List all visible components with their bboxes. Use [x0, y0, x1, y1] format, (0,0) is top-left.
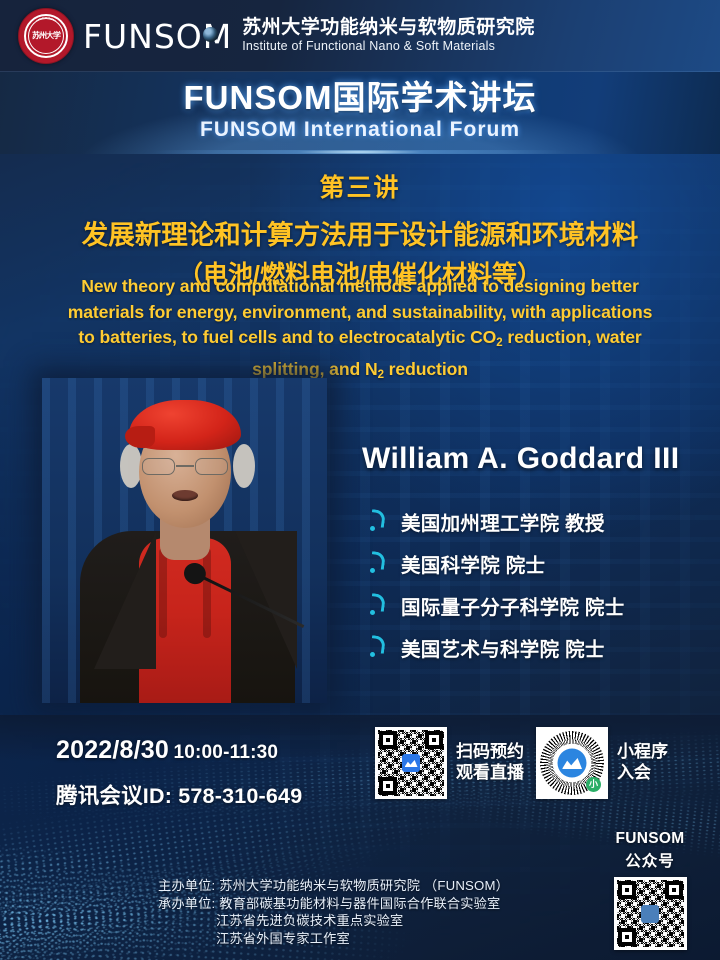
event-date: 2022/8/30 [56, 736, 169, 764]
brand-lockup: FUNSOM 苏州大学功能纳米与软物质研究院 Institute of Func… [83, 18, 535, 54]
institute-names: 苏州大学功能纳米与软物质研究院 Institute of Functional … [242, 18, 535, 54]
funsom-avatar-icon [641, 905, 659, 923]
qr-finder-top-left [379, 731, 397, 749]
forum-title-cn: FUNSOM国际学术讲坛 [0, 79, 720, 117]
qr-code-livestream[interactable] [375, 727, 447, 799]
lecture-title-block: 第三讲 发展新理论和计算方法用于设计能源和环境材料 （电池/燃料电池/电催化材料… [0, 168, 720, 291]
qr-finder-top-right [665, 881, 683, 899]
qr-pattern-round: 小 [539, 730, 605, 796]
signal-bullet-icon [370, 636, 385, 658]
tencent-meeting-icon [402, 754, 420, 772]
qr-code-public-account[interactable] [614, 877, 687, 950]
list-item: 美国科学院 院士 [370, 542, 710, 584]
signal-bullet-icon [370, 552, 385, 574]
qr-finder-bottom-left [379, 777, 397, 795]
photo-lapel-left [94, 531, 156, 669]
credential-label: 国际量子分子科学院 院士 [401, 591, 625, 620]
qr-label-livestream: 扫码预约 观看直播 [456, 742, 524, 783]
co-organizer-2: 江苏省先进负碳技术重点实验室 [158, 912, 588, 930]
soochow-university-seal-icon: 苏州大学 [18, 8, 74, 64]
wechat-miniprogram-badge-icon: 小 [586, 777, 601, 792]
photo-hair-right [233, 444, 255, 488]
qr-block-livestream[interactable]: 扫码预约 观看直播 [375, 727, 524, 799]
photo-glasses [141, 458, 229, 476]
speaker-name: William A. Goddard III [362, 442, 702, 476]
co-organizer-3: 江苏省外国专家工作室 [158, 930, 588, 948]
poster-header: 苏州大学 FUNSOM 苏州大学功能纳米与软物质研究院 Institute of… [0, 0, 720, 72]
abstract-line-3-a: to batteries, to fuel cells and to elect… [78, 327, 496, 347]
abstract-line-2: materials for energy, environment, and s… [34, 300, 686, 326]
qr-label-line1: 小程序 [617, 742, 668, 763]
list-item: 国际量子分子科学院 院士 [370, 584, 710, 626]
signal-bullet-icon [370, 510, 385, 532]
poster-canvas: 苏州大学 FUNSOM 苏州大学功能纳米与软物质研究院 Institute of… [0, 0, 720, 960]
qr-code-row: 扫码预约 观看直播 小 小程序 入会 [375, 727, 668, 799]
signal-bullet-icon [370, 594, 385, 616]
organizers-block: 主办单位: 苏州大学功能纳米与软物质研究院 （FUNSOM） 承办单位: 教育部… [158, 877, 588, 947]
abstract-line-4-b: reduction [384, 359, 468, 379]
lecture-title-line1: 发展新理论和计算方法用于设计能源和环境材料 [0, 213, 720, 252]
credential-label: 美国科学院 院士 [401, 549, 545, 578]
qr-block-miniprogram[interactable]: 小 小程序 入会 [536, 727, 668, 799]
meeting-id: 腾讯会议ID: 578-310-649 [56, 779, 302, 810]
qr-label-line2: 观看直播 [456, 763, 524, 784]
qr-label-line2: 入会 [617, 763, 668, 784]
qr-code-miniprogram[interactable]: 小 [536, 727, 608, 799]
photo-lapel-right [235, 531, 297, 669]
co-organizer-1: 承办单位: 教育部碳基功能材料与器件国际合作联合实验室 [158, 895, 588, 913]
tencent-meeting-icon [558, 749, 587, 778]
forum-banner: FUNSOM国际学术讲坛 FUNSOM International Forum [0, 72, 720, 154]
credential-label: 美国艺术与科学院 院士 [401, 633, 605, 662]
public-account-subtitle: 公众号 [594, 849, 706, 871]
host-organization: 主办单位: 苏州大学功能纳米与软物质研究院 （FUNSOM） [158, 877, 588, 895]
abstract-line-1: New theory and computational methods app… [34, 274, 686, 300]
forum-title-en: FUNSOM International Forum [0, 118, 720, 142]
institute-name-cn: 苏州大学功能纳米与软物质研究院 [242, 18, 535, 39]
public-account-block[interactable]: FUNSOM 公众号 [594, 830, 706, 950]
seal-inscription: 苏州大学 [19, 9, 73, 63]
event-time: 10:00-11:30 [173, 742, 278, 763]
speaker-photo [42, 378, 327, 703]
banner-divider-glow [0, 150, 720, 154]
qr-finder-top-left [618, 881, 636, 899]
list-item: 美国艺术与科学院 院士 [370, 626, 710, 668]
event-datetime: 2022/8/30 10:00-11:30 [56, 736, 278, 765]
lecture-number: 第三讲 [0, 168, 720, 204]
abstract-line-3-b: reduction, water [503, 327, 642, 347]
photo-mouth [172, 490, 198, 501]
abstract-text: New theory and computational methods app… [34, 274, 686, 388]
qr-label-line1: 扫码预约 [456, 742, 524, 763]
abstract-line-4-a: splitting, and N [252, 359, 377, 379]
abstract-line-3: to batteries, to fuel cells and to elect… [34, 325, 686, 357]
qr-finder-bottom-left [618, 928, 636, 946]
speaker-credentials-list: 美国加州理工学院 教授 美国科学院 院士 国际量子分子科学院 院士 美国艺术与科… [370, 500, 710, 668]
funsom-wordmark: FUNSOM [83, 18, 232, 53]
qr-finder-top-right [425, 731, 443, 749]
list-item: 美国加州理工学院 教授 [370, 500, 710, 542]
public-account-title: FUNSOM [594, 830, 706, 848]
credential-label: 美国加州理工学院 教授 [401, 507, 605, 536]
institute-name-en: Institute of Functional Nano & Soft Mate… [242, 39, 535, 53]
qr-label-miniprogram: 小程序 入会 [617, 742, 668, 783]
